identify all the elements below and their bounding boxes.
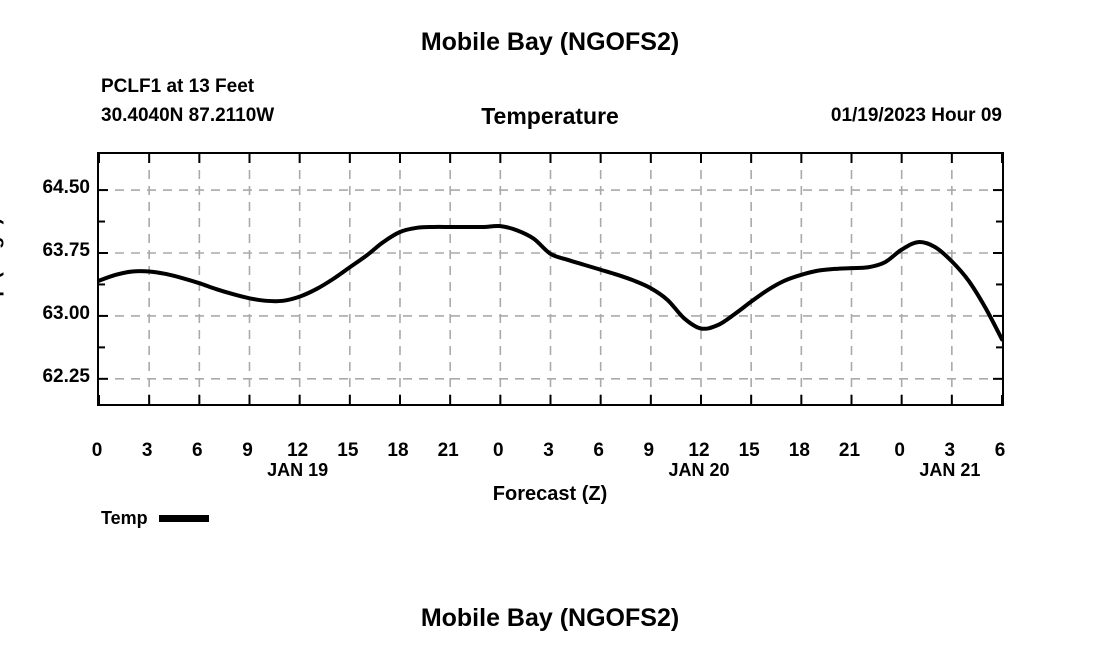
x-tick-label: 15 [337,440,358,462]
x-tick-label: 6 [192,440,203,462]
station-label: PCLF1 at 13 Feet [101,76,254,98]
x-tick-label: 15 [739,440,760,462]
x-axis-title: Forecast (Z) [0,483,1100,506]
x-axis-day-label: JAN 20 [668,460,729,481]
legend-item-label: Temp [101,508,148,529]
x-tick-label: 3 [543,440,554,462]
x-axis-day-label: JAN 19 [267,460,328,481]
page-title: Mobile Bay (NGOFS2) [0,28,1100,57]
x-tick-label: 21 [839,440,860,462]
footer-title: Mobile Bay (NGOFS2) [0,604,1100,633]
y-tick-label: 63.75 [42,240,90,262]
x-tick-label: 0 [92,440,103,462]
x-tick-label: 12 [287,440,308,462]
x-tick-label: 3 [945,440,956,462]
x-tick-label: 21 [438,440,459,462]
model-run-timestamp: 01/19/2023 Hour 09 [831,105,1002,127]
x-tick-label: 6 [995,440,1006,462]
y-tick-label: 63.00 [42,303,90,325]
chart-tick-marks [91,146,1010,422]
x-tick-label: 3 [142,440,153,462]
chart-plot-area [97,152,1004,406]
x-tick-label: 9 [242,440,253,462]
x-axis-day-label: JAN 21 [919,460,980,481]
x-tick-label: 0 [493,440,504,462]
y-tick-label: 64.50 [42,177,90,199]
x-tick-label: 18 [387,440,408,462]
x-tick-label: 9 [644,440,655,462]
x-tick-label: 0 [894,440,905,462]
x-tick-label: 18 [789,440,810,462]
x-tick-label: 6 [593,440,604,462]
chart-legend: Temp [101,508,209,529]
y-axis-title: Temp (degF) [0,218,6,337]
legend-line-swatch [159,515,209,522]
x-tick-label: 12 [688,440,709,462]
y-tick-label: 62.25 [42,366,90,388]
